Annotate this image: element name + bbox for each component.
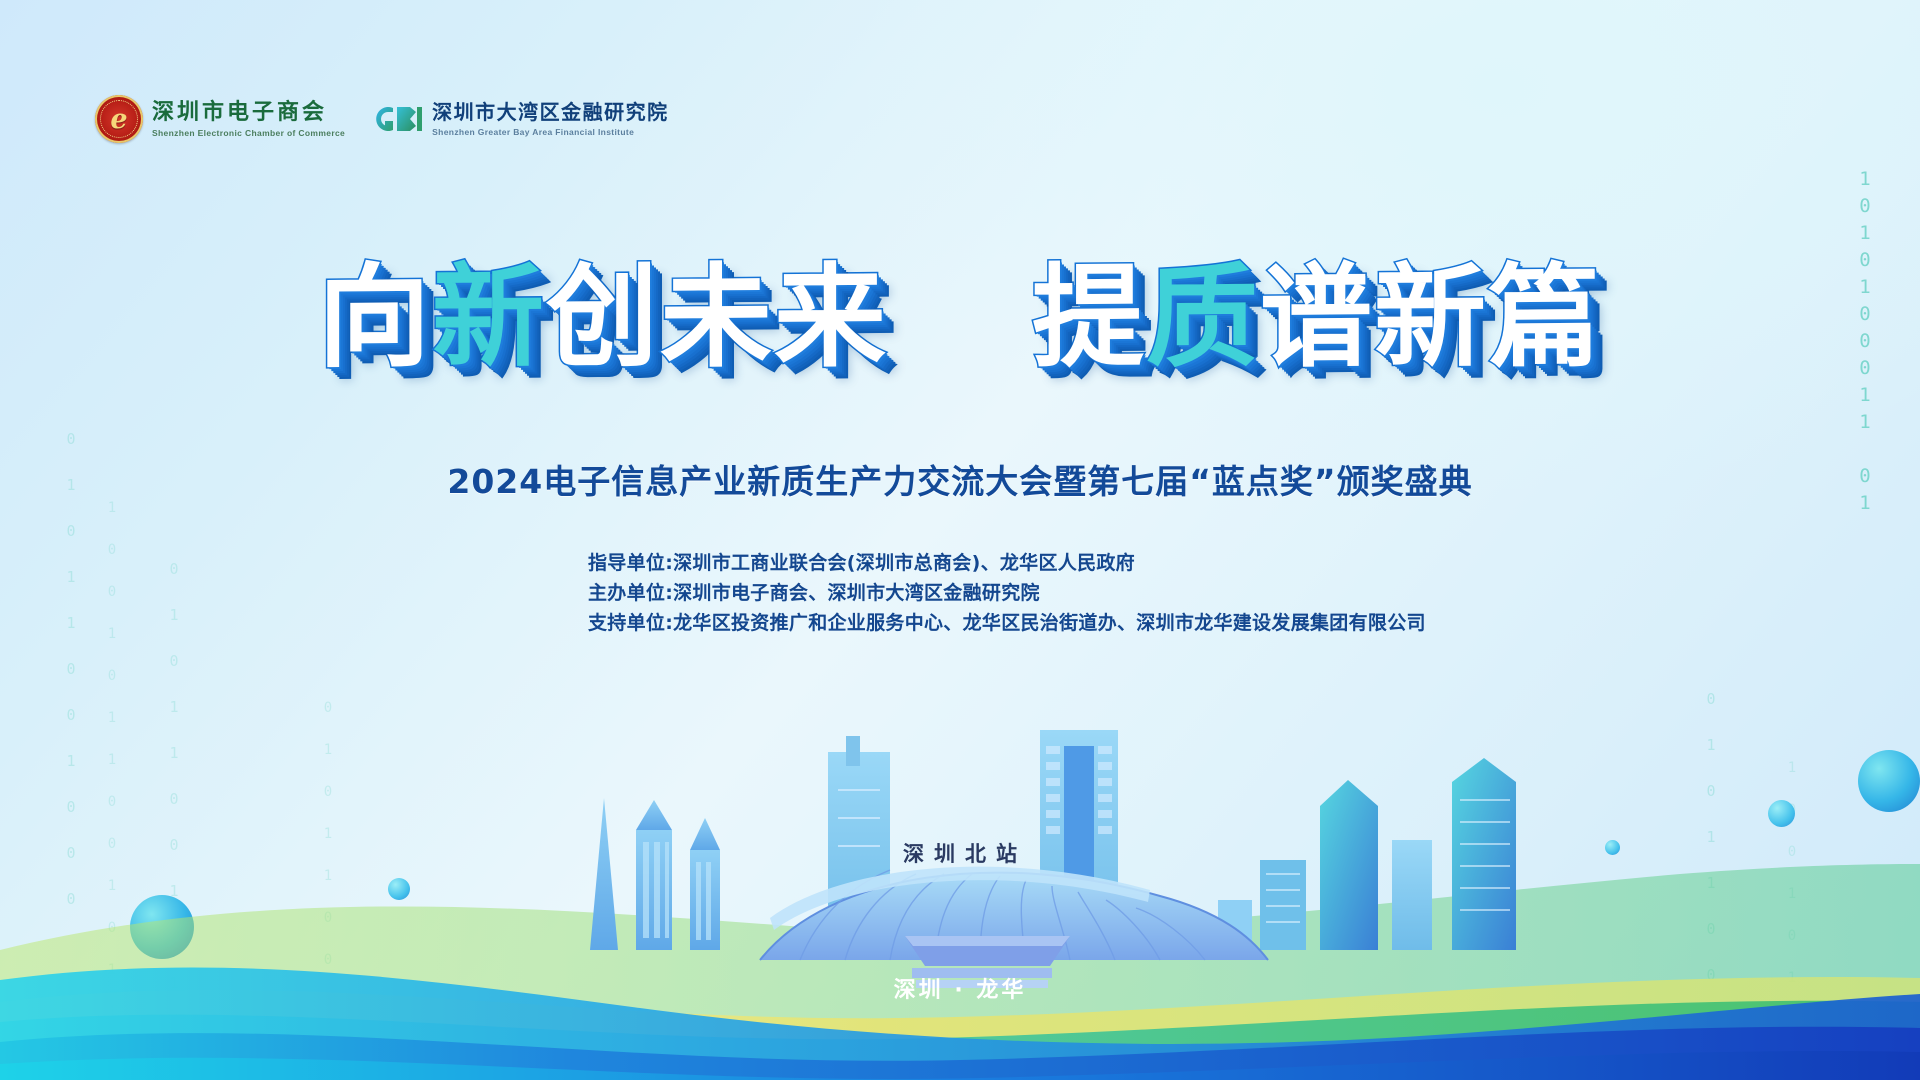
organizer-line-host: 主办单位:深圳市电子商会、深圳市大湾区金融研究院 — [588, 578, 1426, 608]
organizer-list: 指导单位:深圳市工商业联合会(深圳市总商会)、龙华区人民政府 主办单位:深圳市电… — [588, 548, 1426, 638]
poster-canvas: 1010100011 01 0 1 0 1 1 0 0 1 0 0 0 1 0 … — [0, 0, 1920, 1080]
seal-letter-e: e — [95, 95, 143, 143]
title-char-8: 谱 — [1260, 262, 1374, 375]
title-char-3: 创 — [546, 262, 660, 375]
page-title: 向新创未来 提质谱新篇 — [0, 262, 1920, 374]
title-char-9: 新 — [1374, 262, 1488, 375]
sponsor-logo-bar: e 深圳市电子商会 Shenzhen Electronic Chamber of… — [95, 95, 669, 143]
seal-emblem-icon: e — [95, 95, 143, 143]
city-skyline-scene — [0, 650, 1920, 1080]
title-char-10: 篇 — [1488, 262, 1602, 375]
title-phrase-two: 提质谱新篇 — [1032, 262, 1602, 374]
title-char-7: 质 — [1146, 262, 1260, 375]
logo-cn-name-gbi: 深圳市大湾区金融研究院 — [432, 101, 669, 124]
title-char-5: 来 — [774, 262, 888, 375]
gbi-monogram-icon — [371, 102, 423, 136]
title-char-4: 未 — [660, 262, 774, 375]
logo-greater-bay-financial-institute: 深圳市大湾区金融研究院 Shenzhen Greater Bay Area Fi… — [371, 101, 669, 137]
title-char-2: 新 — [432, 262, 546, 375]
title-phrase-one: 向新创未来 — [318, 262, 888, 374]
title-char-1: 向 — [318, 262, 432, 375]
organizer-line-support: 支持单位:龙华区投资推广和企业服务中心、龙华区民治街道办、深圳市龙华建设发展集团… — [588, 608, 1426, 638]
logo-shenzhen-electronic-chamber: e 深圳市电子商会 Shenzhen Electronic Chamber of… — [95, 95, 345, 143]
logo-cn-name-secc: 深圳市电子商会 — [152, 100, 345, 125]
logo-en-name-secc: Shenzhen Electronic Chamber of Commerce — [152, 128, 345, 138]
event-subtitle: 2024电子信息产业新质生产力交流大会暨第七届“蓝点奖”颁奖盛典 — [0, 455, 1920, 503]
title-char-6: 提 — [1032, 262, 1146, 375]
footer-location-label: 深圳 · 龙华 — [0, 972, 1920, 1004]
organizer-line-guidance: 指导单位:深圳市工商业联合会(深圳市总商会)、龙华区人民政府 — [588, 548, 1426, 578]
logo-en-name-gbi: Shenzhen Greater Bay Area Financial Inst… — [432, 127, 669, 137]
